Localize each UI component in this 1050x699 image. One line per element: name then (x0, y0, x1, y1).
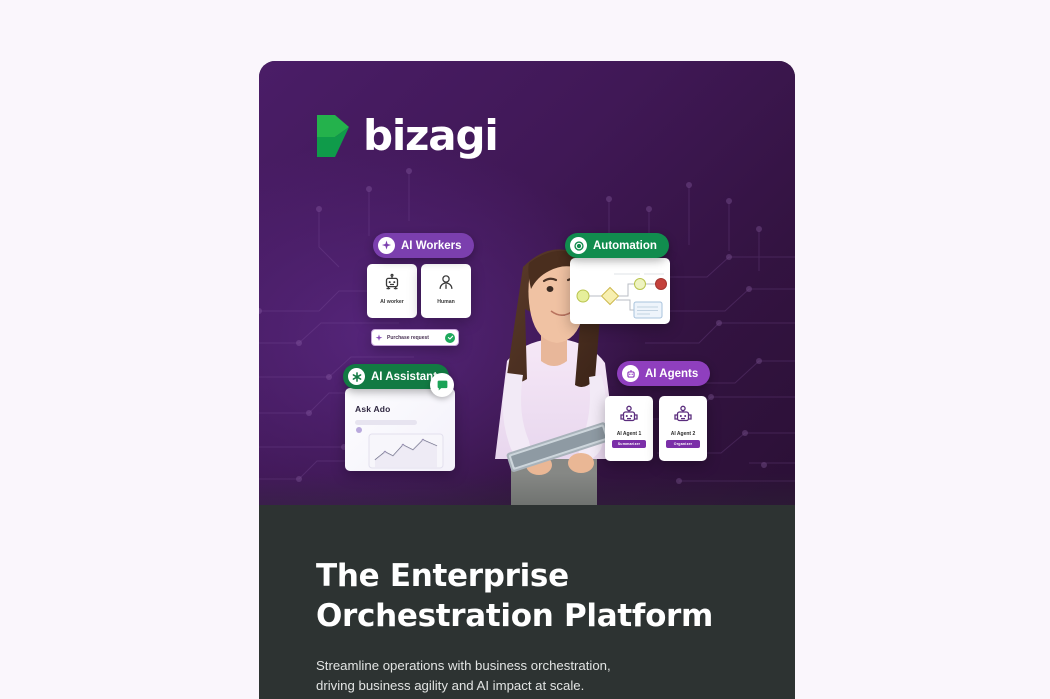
card-ai-agent-1-label: AI Agent 1 (605, 431, 653, 437)
agent-robot-icon (622, 365, 639, 382)
pill-ai-workers[interactable]: AI Workers (373, 233, 474, 258)
bizagi-wordmark: bizagi (363, 115, 498, 157)
gear-target-icon (570, 237, 587, 254)
pill-automation[interactable]: Automation (565, 233, 669, 258)
card-ai-worker[interactable]: AI worker (367, 264, 417, 318)
hero-section: bizagi (259, 61, 795, 505)
card-automation-diagram[interactable] (570, 258, 670, 324)
card-ai-agent-2-label: AI Agent 2 (659, 431, 707, 437)
chat-bubble-icon[interactable] (430, 373, 454, 397)
card-human-label: Human (421, 299, 471, 305)
sparkle-small-icon (375, 334, 383, 342)
headline-line-2: Orchestration Platform (316, 598, 713, 634)
robot-icon (367, 264, 417, 294)
card-ai-agent-1-tag: Summarizer (612, 440, 646, 448)
card-ask-ado[interactable]: Ask Ado (345, 388, 455, 471)
sparkle-icon (378, 237, 395, 254)
pill-ai-workers-label: AI Workers (401, 240, 462, 252)
card-ai-agent-1[interactable]: AI Agent 1 Summarizer (605, 396, 653, 461)
bizagi-logo[interactable]: bizagi (315, 113, 498, 159)
card-ai-agent-2[interactable]: AI Agent 2 Organizer (659, 396, 707, 461)
page-subtitle: Streamline operations with business orch… (316, 656, 738, 696)
pill-ai-agents-label: AI Agents (645, 368, 698, 380)
person-icon (421, 264, 471, 294)
subhead-line-1: Streamline operations with business orch… (316, 658, 611, 673)
pill-ai-assistant-label: AI Assistant (371, 371, 437, 383)
subhead-line-2: driving business agility and AI impact a… (316, 678, 584, 693)
chip-purchase-request-label: Purchase request (387, 335, 441, 341)
card-ai-agent-2-tag: Organizer (666, 440, 700, 448)
page-root: bizagi (0, 0, 1050, 699)
bottom-section: The Enterprise Orchestration Platform St… (259, 505, 795, 699)
check-circle-icon (445, 333, 455, 343)
agent-robot-icon (659, 396, 707, 428)
page-title: The Enterprise Orchestration Platform (316, 557, 738, 636)
promo-card: bizagi (259, 61, 795, 699)
pill-automation-label: Automation (593, 240, 657, 252)
card-human[interactable]: Human (421, 264, 471, 318)
bpmn-diagram-icon (570, 258, 670, 324)
chip-purchase-request[interactable]: Purchase request (371, 329, 459, 346)
agent-robot-icon (605, 396, 653, 428)
headline-line-1: The Enterprise (316, 558, 569, 594)
bizagi-chevron-mark-icon (315, 113, 351, 159)
line-chart-icon (345, 414, 455, 472)
pill-ai-agents[interactable]: AI Agents (617, 361, 710, 386)
asterisk-icon (348, 368, 365, 385)
card-ai-worker-label: AI worker (367, 299, 417, 305)
ask-ado-title: Ask Ado (355, 404, 455, 414)
